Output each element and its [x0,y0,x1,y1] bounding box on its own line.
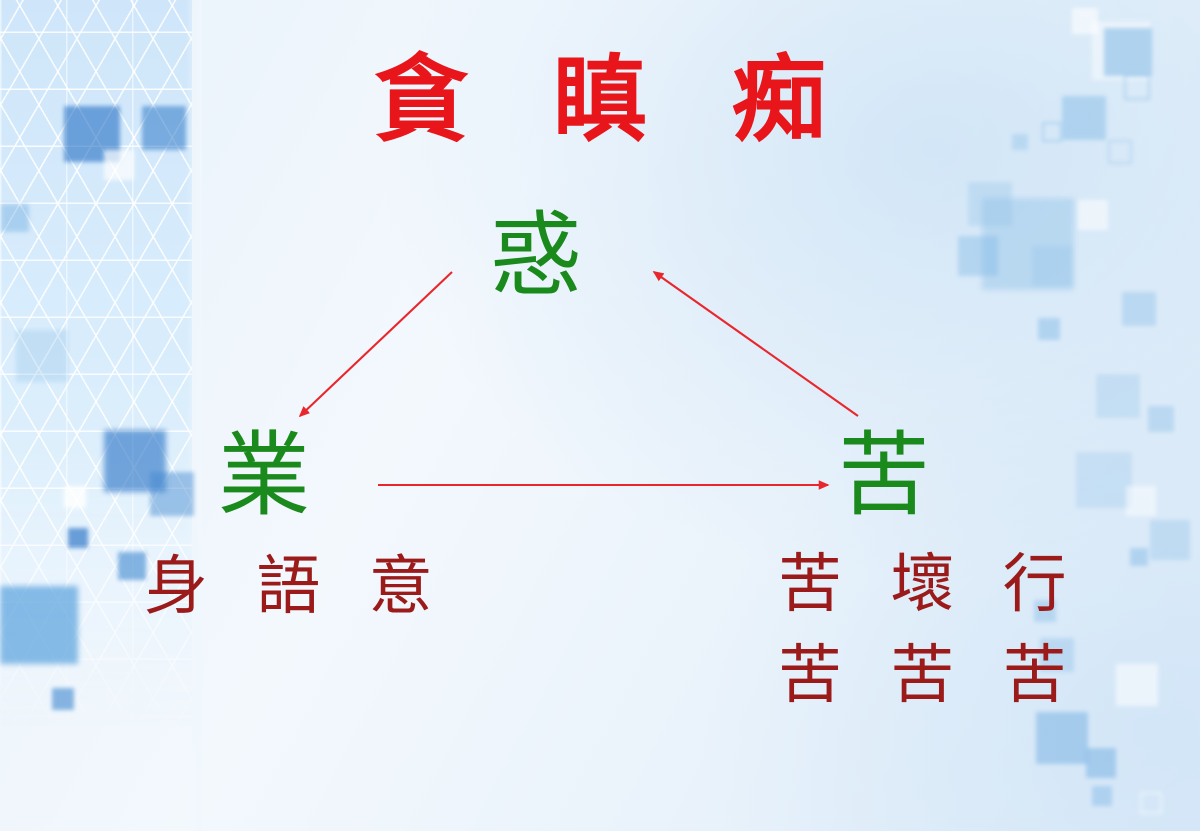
decor-square [1140,792,1162,814]
decor-square [1076,452,1132,508]
karma-caption: 身 語 意 [144,542,447,633]
decor-square [118,552,146,580]
decor-square [68,528,88,548]
decor-square [52,688,74,710]
decor-square [1122,292,1156,326]
suffering-caption-line-2: 苦 苦 苦 [778,631,1081,722]
decor-square [1078,200,1108,230]
decor-square [1,204,29,232]
node-karma: 業 [218,430,310,522]
slide-canvas: 貪 瞋 痴 惑 業 苦 身 語 意 苦 壞 行 苦 苦 苦 [0,0,1200,831]
decor-square [1116,664,1158,706]
decor-square [1086,748,1116,778]
suffering-caption-line-1: 苦 壞 行 [778,540,1081,631]
decor-square [1130,548,1148,566]
decor-square [104,150,134,180]
page-title: 貪 瞋 痴 [0,52,1200,151]
decor-square [16,330,68,382]
decor-square [1096,374,1140,418]
suffering-caption: 苦 壞 行 苦 苦 苦 [778,540,1081,722]
decor-square [958,236,998,276]
decor-square [150,472,194,516]
node-delusion: 惑 [490,210,582,302]
decor-square [1148,406,1174,432]
node-suffering: 苦 [838,430,930,522]
decor-square [0,586,78,664]
arrow-delusion-to-karma [300,272,452,416]
decor-square [64,486,86,508]
decor-square [1150,520,1190,560]
decor-square [1092,786,1112,806]
decor-square [1126,486,1156,516]
arrow-suffering-to-delusion [654,272,858,416]
decor-square [1032,246,1072,286]
decor-square [1038,318,1060,340]
